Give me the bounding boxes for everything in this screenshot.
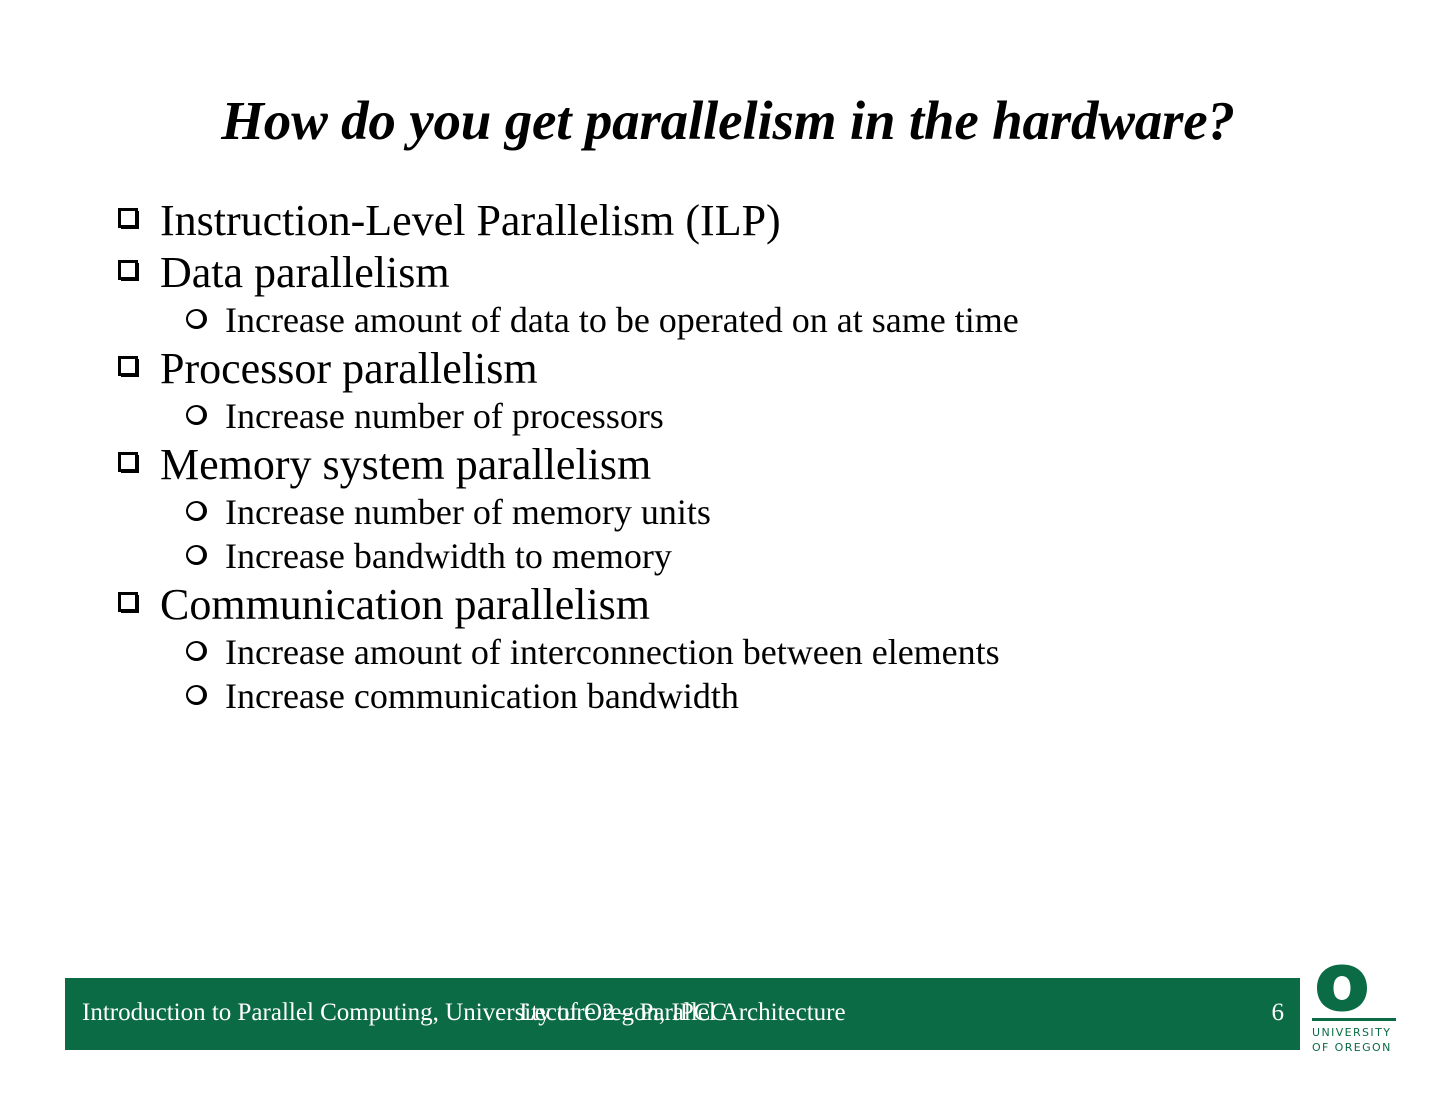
list-item: Instruction-Level Parallelism (ILP) — [0, 196, 1440, 246]
bullet-list: Instruction-Level Parallelism (ILP) Data… — [0, 196, 1440, 719]
hollow-circle-bullet-icon — [186, 396, 205, 436]
list-item-label: Memory system parallelism — [160, 440, 651, 489]
slide-page-number: 6 — [1272, 999, 1285, 1027]
hollow-circle-bullet-icon — [186, 492, 205, 532]
hollow-circle-bullet-icon — [186, 300, 205, 340]
sub-list-item-label: Increase number of memory units — [225, 492, 711, 532]
list-item: Processor parallelism — [0, 344, 1440, 394]
list-item-label: Instruction-Level Parallelism (ILP) — [160, 196, 781, 245]
slide: How do you get parallelism in the hardwa… — [0, 0, 1440, 1113]
logo-divider — [1312, 1018, 1396, 1021]
hollow-square-bullet-icon — [118, 248, 139, 297]
page-title: How do you get parallelism in the hardwa… — [108, 92, 1348, 150]
list-item: Communication parallelism — [0, 580, 1440, 630]
sub-list-item: Increase amount of interconnection betwe… — [0, 632, 1440, 674]
footer-lecture-label: Lecture 2 – Parallel Architecture — [65, 999, 1300, 1027]
sub-list-item-label: Increase communication bandwidth — [225, 676, 739, 716]
list-item-label: Communication parallelism — [160, 580, 650, 629]
hollow-square-bullet-icon — [118, 580, 139, 629]
sub-list-item: Increase number of processors — [0, 396, 1440, 438]
oregon-o-icon — [1312, 963, 1372, 1013]
list-item-label: Processor parallelism — [160, 344, 538, 393]
sub-list-item-label: Increase bandwidth to memory — [225, 536, 672, 576]
sub-list-item-label: Increase amount of interconnection betwe… — [225, 632, 1000, 672]
sub-list-item: Increase bandwidth to memory — [0, 536, 1440, 578]
hollow-square-bullet-icon — [118, 196, 139, 245]
list-item-label: Data parallelism — [160, 248, 450, 297]
sub-list-item-label: Increase number of processors — [225, 396, 664, 436]
logo-wordmark-line1: UNIVERSITY — [1312, 1026, 1410, 1041]
hollow-square-bullet-icon — [118, 344, 139, 393]
hollow-circle-bullet-icon — [186, 536, 205, 576]
logo-wordmark-line2: OF OREGON — [1312, 1041, 1410, 1056]
sub-list-item: Increase communication bandwidth — [0, 676, 1440, 718]
list-item: Data parallelism — [0, 248, 1440, 298]
sub-list-item-label: Increase amount of data to be operated o… — [225, 300, 1019, 340]
university-of-oregon-logo: UNIVERSITY OF OREGON — [1310, 963, 1410, 1058]
hollow-square-bullet-icon — [118, 440, 139, 489]
sub-list-item: Increase number of memory units — [0, 492, 1440, 534]
hollow-circle-bullet-icon — [186, 676, 205, 716]
footer-bar: Introduction to Parallel Computing, Univ… — [65, 978, 1300, 1050]
sub-list-item: Increase amount of data to be operated o… — [0, 300, 1440, 342]
hollow-circle-bullet-icon — [186, 632, 205, 672]
list-item: Memory system parallelism — [0, 440, 1440, 490]
